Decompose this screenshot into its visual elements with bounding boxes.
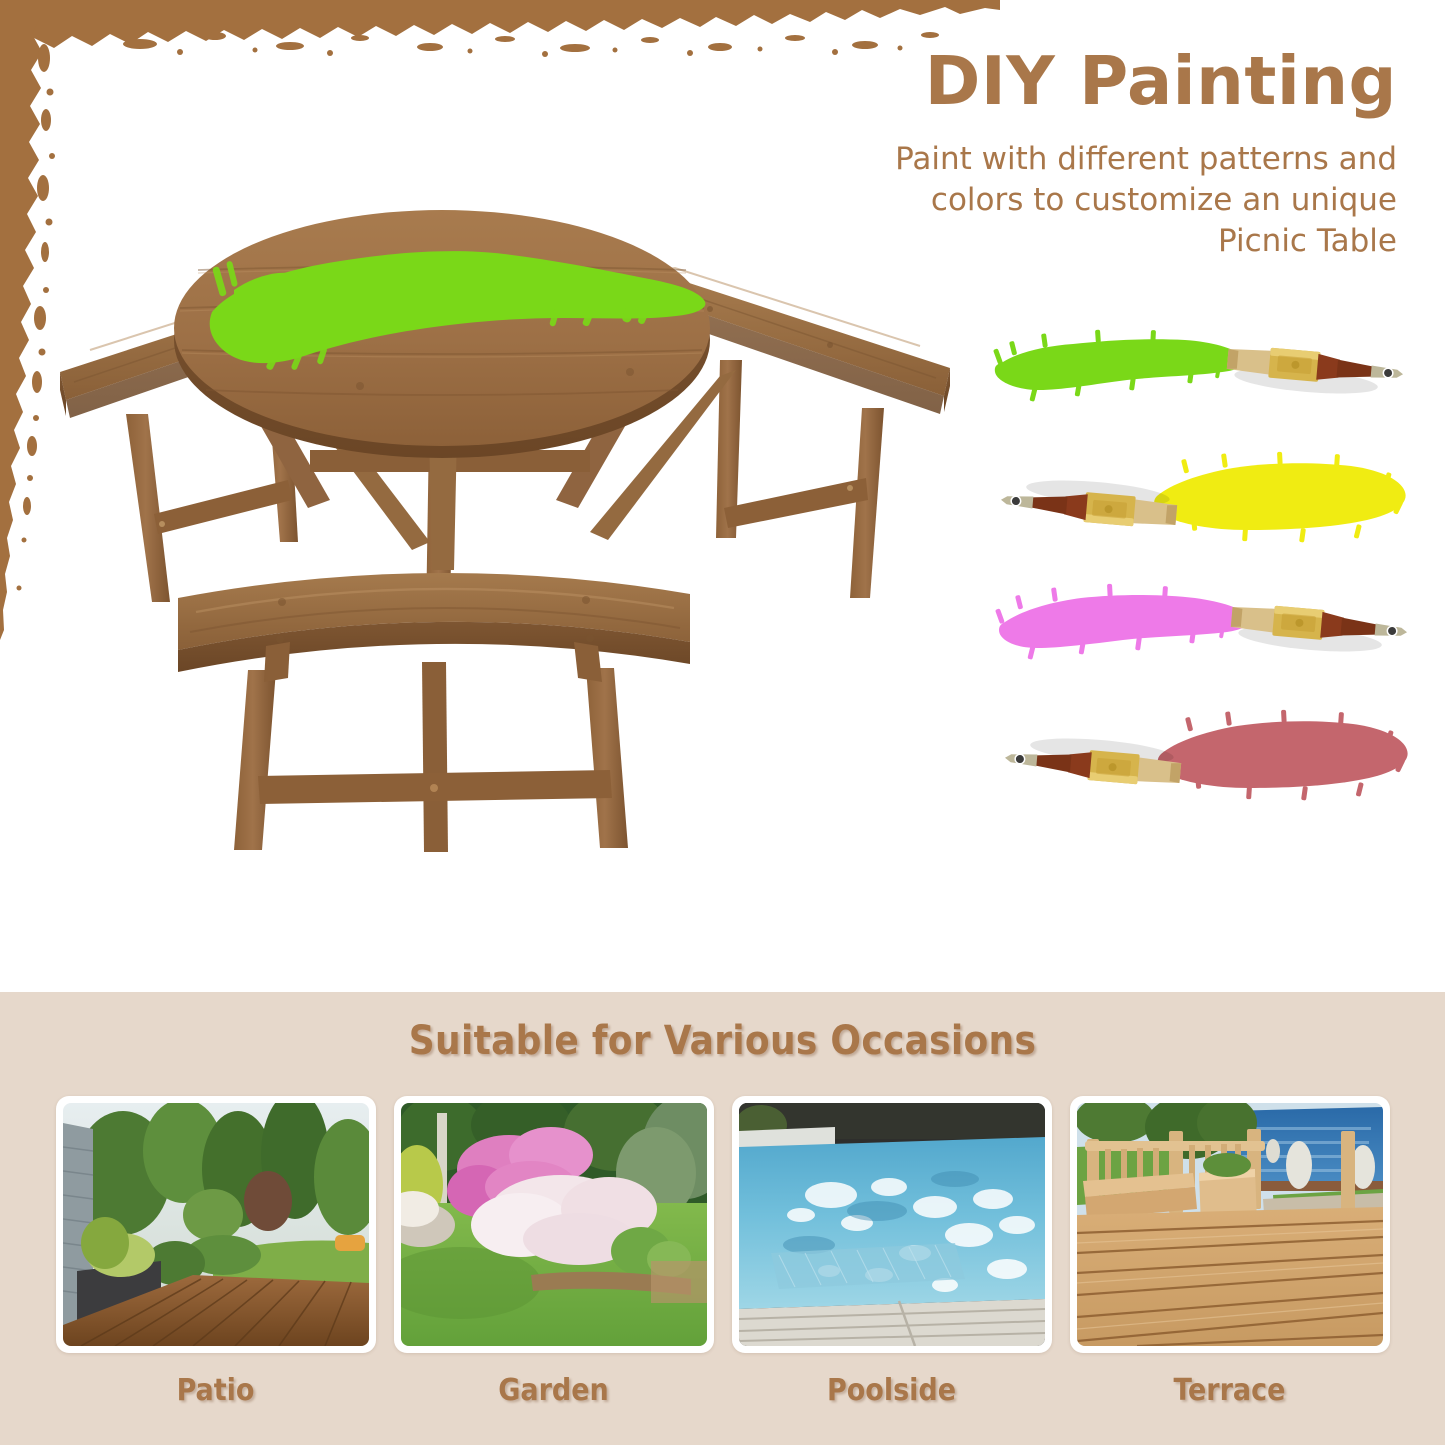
picnic-table-product-image xyxy=(30,150,980,870)
swatch-row-yellow xyxy=(985,438,1415,566)
paint-brush-icon xyxy=(1225,344,1404,400)
swatch-row-pink xyxy=(985,566,1415,694)
occasion-label: Garden xyxy=(394,1373,714,1408)
occasions-panel: Suitable for Various Occasions xyxy=(0,992,1445,1445)
occasion-card-garden[interactable]: Garden xyxy=(394,1096,714,1408)
garden-flowers-photo xyxy=(401,1103,707,1346)
pink-paint-swatch xyxy=(995,584,1249,660)
swatch-row-green xyxy=(985,310,1415,438)
page-title: DIY Painting xyxy=(837,46,1397,117)
paint-brush-icon xyxy=(1000,474,1179,530)
lakeside-terrace-photo xyxy=(1077,1103,1383,1346)
occasion-card-terrace[interactable]: Terrace xyxy=(1070,1096,1390,1408)
patio-deck-photo xyxy=(63,1103,369,1346)
swimming-pool-photo xyxy=(739,1103,1045,1346)
photo-frame xyxy=(56,1096,376,1353)
occasions-grid: Patio xyxy=(0,1096,1445,1408)
photo-frame xyxy=(1070,1096,1390,1353)
green-paint-swatch xyxy=(993,330,1246,402)
occasion-card-poolside[interactable]: Poolside xyxy=(732,1096,1052,1408)
swatch-row-red xyxy=(985,694,1415,822)
red-paint-swatch xyxy=(1158,710,1408,801)
occasion-label: Terrace xyxy=(1070,1373,1390,1408)
occasion-card-patio[interactable]: Patio xyxy=(56,1096,376,1408)
paint-swatch-panel xyxy=(985,310,1415,830)
photo-frame xyxy=(394,1096,714,1353)
paint-brush-icon xyxy=(1004,732,1183,788)
occasions-title: Suitable for Various Occasions xyxy=(0,992,1445,1064)
yellow-paint-swatch xyxy=(1154,452,1405,543)
diy-painting-panel: DIY Painting Paint with different patter… xyxy=(0,0,1445,992)
photo-frame xyxy=(732,1096,1052,1353)
paint-brush-icon xyxy=(1229,602,1408,658)
table-top-and-legs xyxy=(174,210,710,620)
bench-front xyxy=(178,573,690,852)
occasion-label: Poolside xyxy=(732,1373,1052,1408)
occasion-label: Patio xyxy=(56,1373,376,1408)
